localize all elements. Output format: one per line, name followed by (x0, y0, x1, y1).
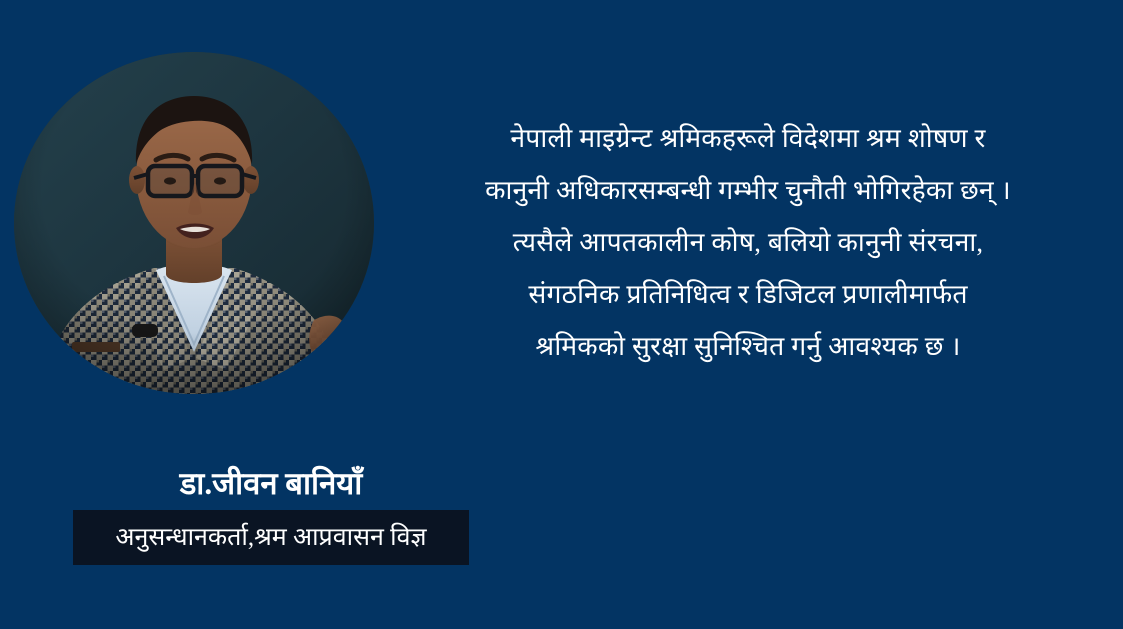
quote-card-slide: नेपाली माइग्रेन्ट श्रमिकहरूले विदेशमा श्… (0, 0, 1123, 629)
portrait-illustration (14, 52, 374, 394)
quote-line-3: त्यसैले आपतकालीन कोष, बलियो कानुनी संरचन… (398, 216, 1098, 268)
quote-line-5: श्रमिकको सुरक्षा सुनिश्चित गर्नु आवश्यक … (398, 320, 1098, 372)
quote-text-block: नेपाली माइग्रेन्ट श्रमिकहरूले विदेशमा श्… (398, 112, 1098, 372)
speaker-name: डा.जीवन बानियाँ (73, 463, 469, 505)
speaker-role-text: अनुसन्धानकर्ता,श्रम आप्रवासन विज्ञ (115, 521, 426, 555)
speaker-role-badge: अनुसन्धानकर्ता,श्रम आप्रवासन विज्ञ (73, 510, 469, 565)
quote-line-2: कानुनी अधिकारसम्बन्धी गम्भीर चुनौती भोगि… (398, 164, 1098, 216)
speaker-portrait (14, 52, 374, 394)
quote-line-1: नेपाली माइग्रेन्ट श्रमिकहरूले विदेशमा श्… (398, 112, 1098, 164)
quote-line-4: संगठनिक प्रतिनिधित्व र डिजिटल प्रणालीमार… (398, 268, 1098, 320)
